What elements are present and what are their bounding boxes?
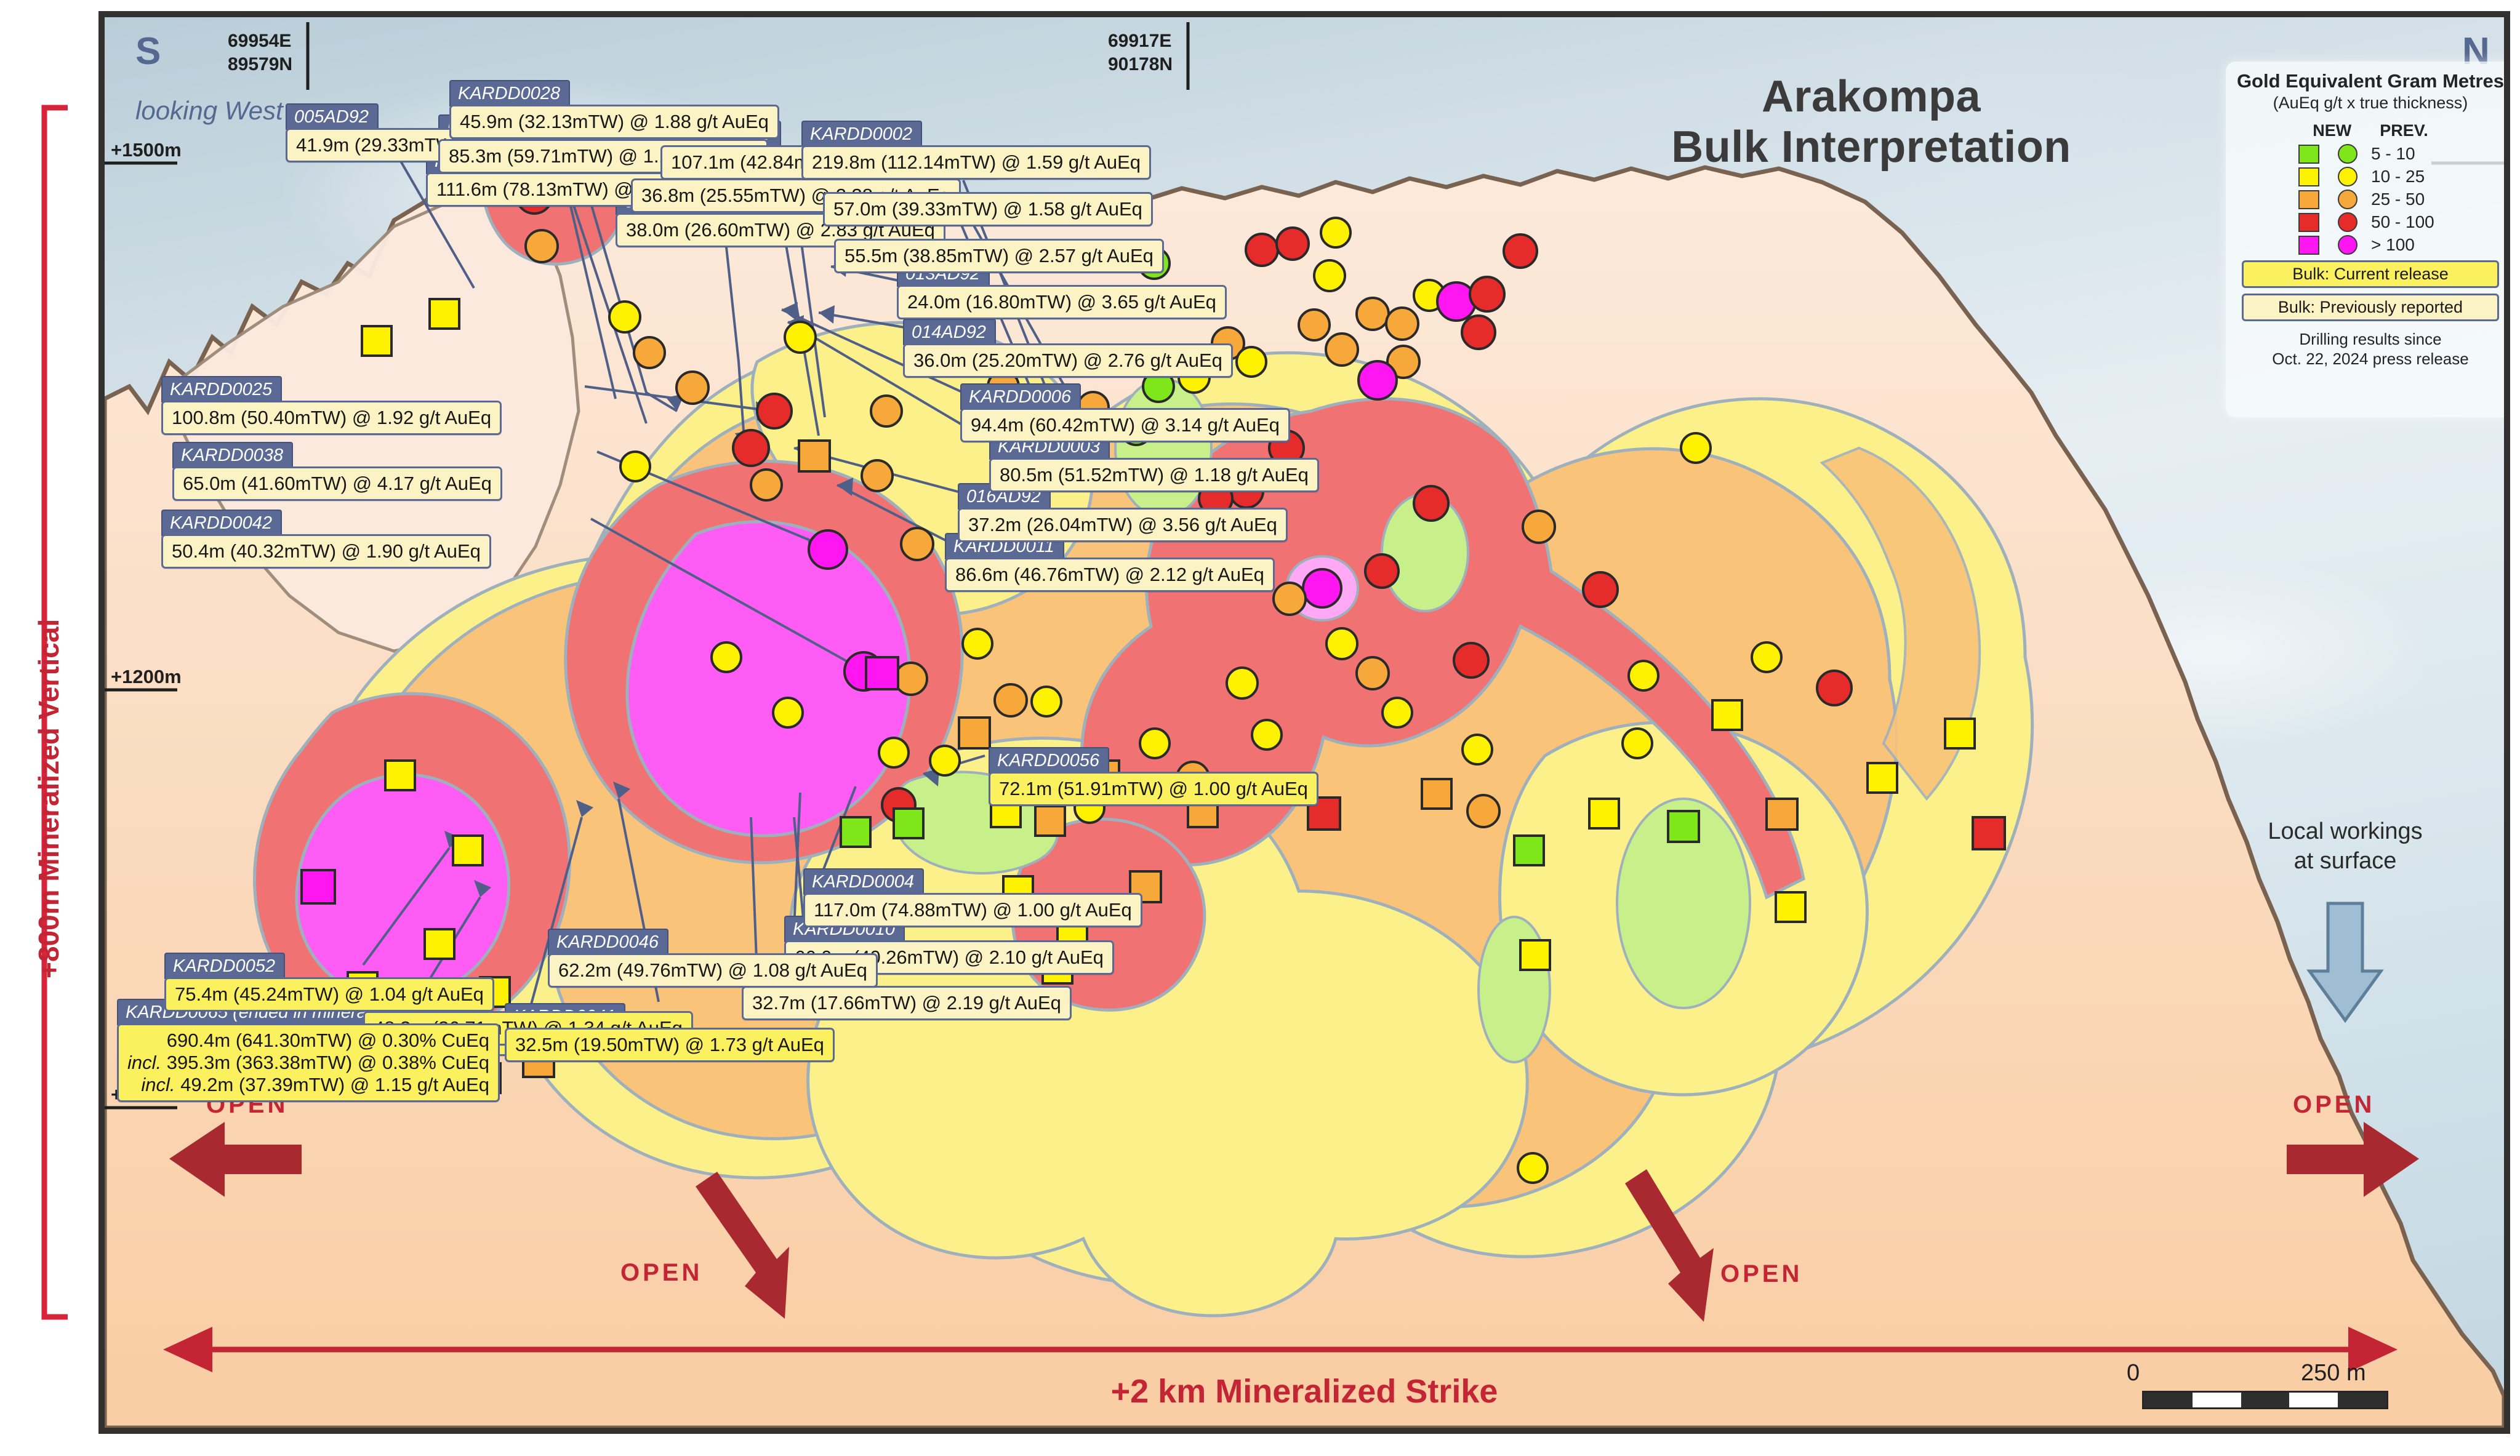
legend-panel: Gold Equivalent Gram Metres (AuEq g/t x … xyxy=(2226,62,2510,417)
legend-subtitle: (AuEq g/t x true thickness) xyxy=(2226,94,2510,113)
callout-header: KARDD0042 xyxy=(161,510,282,536)
callout-line: incl. 49.2m (37.39mTW) @ 1.15 g/t AuEq xyxy=(127,1074,489,1096)
coord-left-easting: 69954E xyxy=(228,30,292,53)
callout-header: 005AD92 xyxy=(286,103,379,130)
coord-right: 69917E 90178N xyxy=(1108,30,1173,76)
legend-columns: NEW PREV. xyxy=(2226,121,2510,140)
callout-body: 32.5m (19.50mTW) @ 1.73 g/t AuEq xyxy=(505,1028,835,1062)
local-workings-label: Local workings at surface xyxy=(2241,817,2450,876)
callout-header: 014AD92 xyxy=(903,319,996,345)
legend-swatch-new-icon xyxy=(2298,190,2319,209)
legend-pill-previous: Bulk: Previously reported xyxy=(2242,294,2499,321)
callout-header: KARDD0056 xyxy=(989,747,1109,774)
callout-header: KARDD0038 xyxy=(172,442,293,468)
legend-swatch-prev-icon xyxy=(2338,190,2357,209)
callout-body: 80.5m (51.52mTW) @ 1.18 g/t AuEq xyxy=(989,458,1319,492)
elev-label-1200: +1200m xyxy=(111,666,182,688)
legend-row: 10 - 25 xyxy=(2298,167,2510,186)
legend-swatch-new-icon xyxy=(2298,236,2319,255)
open-arrow-bottom-left xyxy=(696,1172,789,1319)
callout-KARDD0025[interactable]: KARDD0025100.8m (50.40mTW) @ 1.92 g/t Au… xyxy=(161,376,502,435)
callout-body: 86.6m (46.76mTW) @ 2.12 g/t AuEq xyxy=(945,558,1275,592)
coord-right-easting: 69917E xyxy=(1108,30,1173,53)
legend-row: 50 - 100 xyxy=(2298,212,2510,232)
callout-body: 219.8m (112.14mTW) @ 1.59 g/t AuEq xyxy=(801,145,1151,180)
legend-row: 25 - 50 xyxy=(2298,190,2510,209)
legend-note-line-1: Drilling results since xyxy=(2226,330,2510,350)
scale-seg xyxy=(2193,1393,2241,1407)
scale-bar xyxy=(2142,1391,2388,1409)
local-workings-line-1: Local workings xyxy=(2241,817,2450,847)
callout-KARDD0028[interactable]: KARDD002845.9m (32.13mTW) @ 1.88 g/t AuE… xyxy=(449,80,779,139)
local-workings-arrow xyxy=(2309,903,2381,1020)
coord-left-northing: 89579N xyxy=(228,53,292,76)
callout-header: KARDD0025 xyxy=(161,376,282,402)
cross-section-figure: +800m Mineralized Vertical xyxy=(0,0,2520,1456)
vertical-extent-label: +800m Mineralized Vertical xyxy=(32,619,65,978)
legend-swatch-prev-icon xyxy=(2338,167,2357,186)
open-arrow-bottom-right xyxy=(1625,1169,1714,1322)
scale-seg xyxy=(2289,1393,2338,1407)
callout-KARDD0002[interactable]: KARDD0002219.8m (112.14mTW) @ 1.59 g/t A… xyxy=(801,121,1151,180)
callout-body: 36.0m (25.20mTW) @ 2.76 g/t AuEq xyxy=(903,343,1233,378)
compass-south: S xyxy=(135,30,161,73)
callout-body: 45.9m (32.13mTW) @ 1.88 g/t AuEq xyxy=(449,105,779,139)
scale-seg xyxy=(2241,1393,2290,1407)
callout-line: incl. 395.3m (363.38mTW) @ 0.38% CuEq xyxy=(127,1052,489,1074)
legend-class-label: 25 - 50 xyxy=(2371,190,2425,209)
legend-class-rows: 5 - 1010 - 2525 - 5050 - 100> 100 xyxy=(2226,144,2510,255)
legend-title: Gold Equivalent Gram Metres xyxy=(2226,70,2510,92)
legend-class-label: 50 - 100 xyxy=(2371,212,2434,232)
callout-body: 117.0m (74.88mTW) @ 1.00 g/t AuEq xyxy=(803,893,1142,927)
open-label-right: OPEN xyxy=(2293,1091,2375,1119)
callout-body: 72.1m (51.91mTW) @ 1.00 g/t AuEq xyxy=(989,772,1318,806)
callout-KARDD0038[interactable]: KARDD003865.0m (41.60mTW) @ 4.17 g/t AuE… xyxy=(172,442,502,501)
looking-direction-label: looking West xyxy=(135,96,283,126)
scale-seg xyxy=(2144,1393,2193,1407)
callout-body: 57.0m (39.33mTW) @ 1.58 g/t AuEq xyxy=(823,192,1153,226)
callout-KARDD0052[interactable]: KARDD005275.4m (45.24mTW) @ 1.04 g/t AuE… xyxy=(164,953,494,1012)
callout-header: KARDD0002 xyxy=(801,121,922,147)
legend-swatch-prev-icon xyxy=(2338,144,2357,164)
section-frame: S N looking West 69954E 89579N 69917E 90… xyxy=(98,11,2510,1434)
callout-header: KARDD0004 xyxy=(803,868,924,895)
callout-header: KARDD0046 xyxy=(548,929,668,955)
callout-KARDD0042[interactable]: KARDD004250.4m (40.32mTW) @ 1.90 g/t AuE… xyxy=(161,510,491,569)
callout-body: 75.4m (45.24mTW) @ 1.04 g/t AuEq xyxy=(164,977,494,1012)
callout-body: 100.8m (50.40mTW) @ 1.92 g/t AuEq xyxy=(161,401,502,435)
callout-body: 37.2m (26.04mTW) @ 3.56 g/t AuEq xyxy=(958,508,1288,542)
legend-col-prev: PREV. xyxy=(2380,121,2428,140)
callout-KARDD0006[interactable]: KARDD000694.4m (60.42mTW) @ 3.14 g/t AuE… xyxy=(960,383,1290,442)
legend-note-line-2: Oct. 22, 2024 press release xyxy=(2226,350,2510,369)
scale-zero-label: 0 xyxy=(2127,1360,2140,1386)
legend-row: > 100 xyxy=(2298,235,2510,255)
legend-class-label: 10 - 25 xyxy=(2371,167,2425,186)
legend-swatch-new-icon xyxy=(2298,213,2319,232)
open-label-bottom-left: OPEN xyxy=(620,1259,702,1287)
legend-swatch-new-icon xyxy=(2298,145,2319,164)
callout-header: KARDD0052 xyxy=(164,953,285,979)
overlay-annotations-layer xyxy=(105,17,2504,1428)
legend-class-label: > 100 xyxy=(2371,235,2415,255)
callout-line: 690.4m (641.30mTW) @ 0.30% CuEq xyxy=(127,1030,489,1052)
strike-double-arrow xyxy=(163,1327,2398,1372)
callout-KARDD0004[interactable]: KARDD0004117.0m (74.88mTW) @ 1.00 g/t Au… xyxy=(803,868,1142,927)
open-label-bottom-right: OPEN xyxy=(1720,1260,1802,1288)
legend-col-new: NEW xyxy=(2313,121,2351,140)
callout-014AD92[interactable]: 014AD9236.0m (25.20mTW) @ 2.76 g/t AuEq xyxy=(903,319,1233,378)
callout-body: 55.5m (38.85mTW) @ 2.57 g/t AuEq xyxy=(834,239,1164,273)
callout-body: 62.2m (49.76mTW) @ 1.08 g/t AuEq xyxy=(548,953,878,988)
title-line-2: Bulk Interpretation xyxy=(1563,122,2179,172)
callout-header: KARDD0028 xyxy=(449,80,570,106)
legend-row: 5 - 10 xyxy=(2298,144,2510,164)
callout-body: 24.0m (16.80mTW) @ 3.65 g/t AuEq xyxy=(897,285,1227,319)
callout-body: 94.4m (60.42mTW) @ 3.14 g/t AuEq xyxy=(960,408,1290,442)
coord-left: 69954E 89579N xyxy=(228,30,292,76)
legend-swatch-prev-icon xyxy=(2338,212,2357,232)
scale-seg xyxy=(2338,1393,2386,1407)
legend-class-label: 5 - 10 xyxy=(2371,144,2415,164)
open-arrow-right xyxy=(2287,1122,2419,1197)
callout-KARDD0056[interactable]: KARDD005672.1m (51.91mTW) @ 1.00 g/t AuE… xyxy=(989,747,1318,806)
callout-body: 65.0m (41.60mTW) @ 4.17 g/t AuEq xyxy=(172,466,502,501)
callout-body: 32.7m (17.66mTW) @ 2.19 g/t AuEq xyxy=(742,986,1072,1020)
scale-max-label: 250 m xyxy=(2301,1360,2366,1386)
legend-pill-current: Bulk: Current release xyxy=(2242,260,2499,288)
page-title: Arakompa Bulk Interpretation xyxy=(1563,71,2179,172)
callout-body: 50.4m (40.32mTW) @ 1.90 g/t AuEq xyxy=(161,534,491,569)
title-line-1: Arakompa xyxy=(1563,71,2179,122)
local-workings-line-2: at surface xyxy=(2241,847,2450,876)
legend-swatch-prev-icon xyxy=(2338,235,2357,255)
callout-body: 690.4m (641.30mTW) @ 0.30% CuEqincl. 395… xyxy=(117,1023,500,1102)
callout-header: KARDD0006 xyxy=(960,383,1081,410)
legend-note: Drilling results since Oct. 22, 2024 pre… xyxy=(2226,330,2510,369)
elev-label-1500: +1500m xyxy=(111,139,182,161)
coord-right-northing: 90178N xyxy=(1108,53,1173,76)
legend-swatch-new-icon xyxy=(2298,167,2319,186)
open-arrow-left xyxy=(169,1122,302,1197)
